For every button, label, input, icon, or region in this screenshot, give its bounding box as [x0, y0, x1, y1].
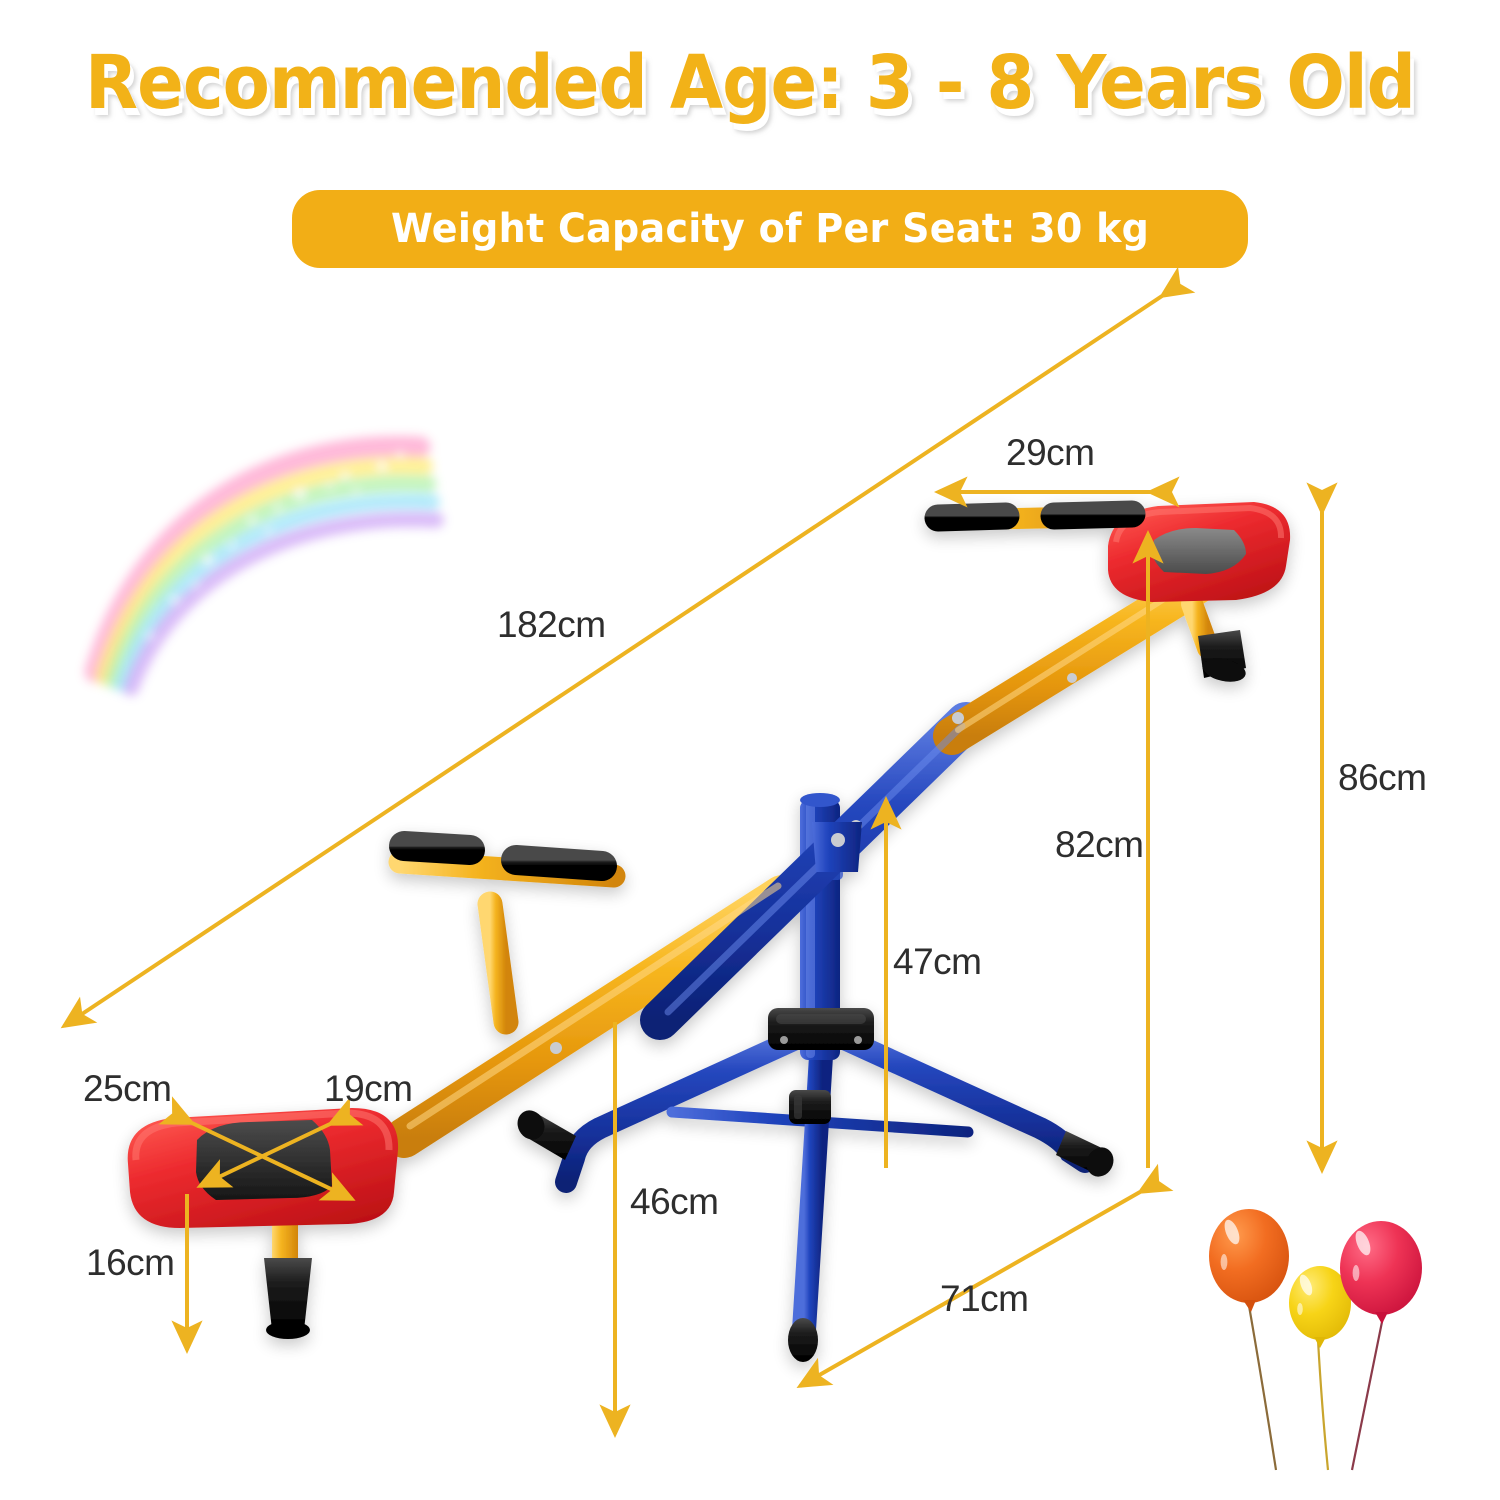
dimension-label-19cm: 19cm	[324, 1068, 412, 1110]
seesaw-illustration	[0, 0, 1500, 1500]
arrow-182cm	[64, 296, 1162, 1026]
dimension-label-47cm: 47cm	[893, 941, 981, 983]
balloons-decoration	[1209, 1209, 1422, 1470]
dimension-label-25cm: 25cm	[83, 1068, 171, 1110]
pivot-hub	[768, 1008, 874, 1050]
balloon-pink	[1340, 1221, 1422, 1324]
seesaw-product	[128, 502, 1290, 1362]
rainbow-icon	[95, 446, 436, 688]
dimension-label-182cm: 182cm	[497, 604, 606, 646]
right-seat	[1108, 502, 1290, 685]
left-handlebar	[400, 846, 614, 1022]
dimension-label-71cm: 71cm	[940, 1278, 1028, 1320]
dimension-label-86cm: 86cm	[1338, 757, 1426, 799]
balloon-orange	[1209, 1209, 1289, 1312]
dimension-label-46cm: 46cm	[630, 1181, 718, 1223]
dimension-label-16cm: 16cm	[86, 1242, 174, 1284]
left-seat	[128, 1108, 398, 1339]
dimension-label-82cm: 82cm	[1055, 824, 1143, 866]
dimension-label-29cm: 29cm	[1006, 432, 1094, 474]
product-dimension-diagram: Recommended Age: 3 - 8 Years Old Weight …	[0, 0, 1500, 1500]
